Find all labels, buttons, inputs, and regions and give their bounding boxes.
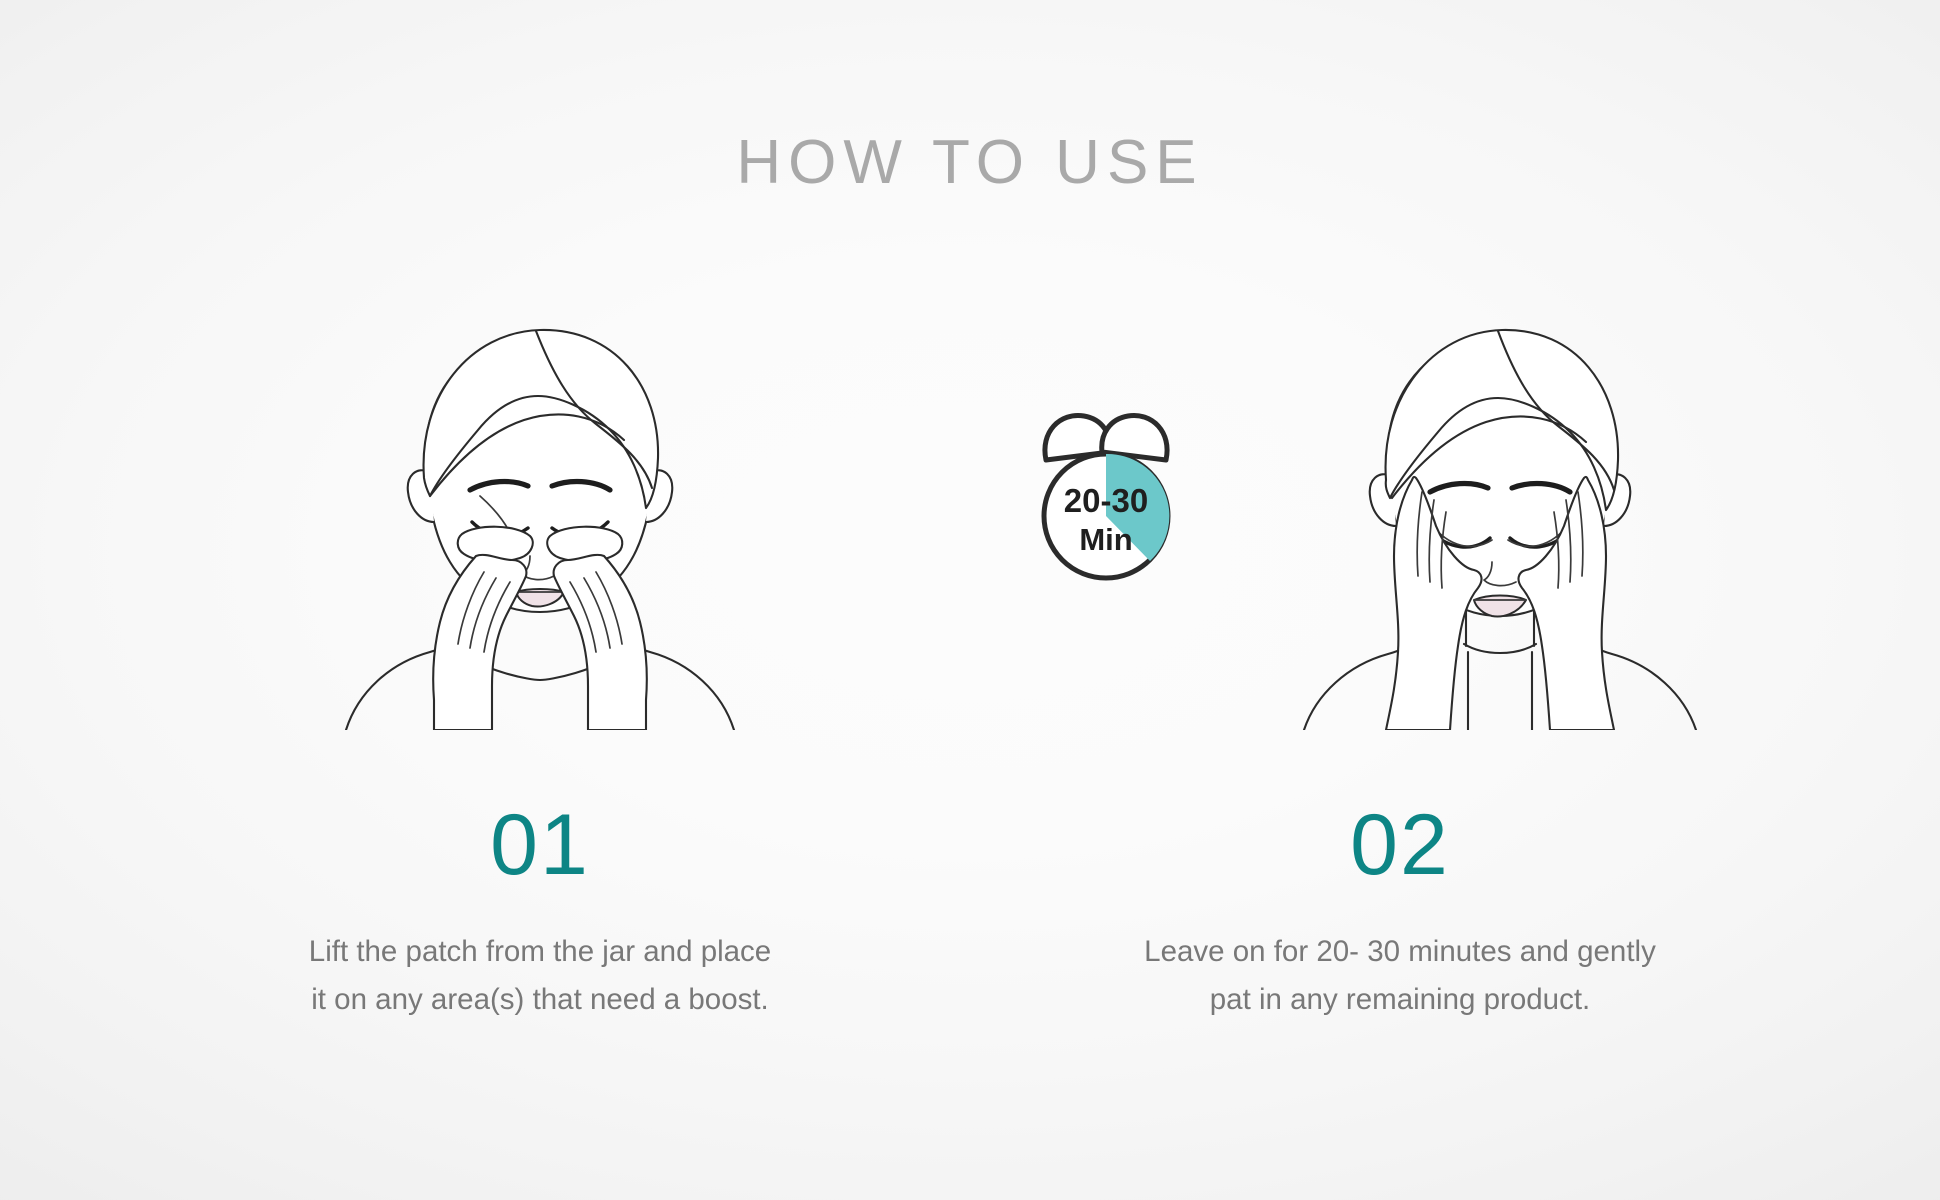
alarm-clock-icon: 20-30 Min xyxy=(1044,415,1169,578)
step-02-illustration: 20-30 Min xyxy=(1020,300,1780,730)
step-02-number: 02 xyxy=(1350,802,1450,888)
step-02-caption-line1: Leave on for 20- 30 minutes and gently xyxy=(1144,935,1656,968)
step-01-number: 01 xyxy=(490,802,590,888)
step-01-caption-line2: it on any area(s) that need a boost. xyxy=(311,983,769,1016)
clock-unit-label: Min xyxy=(1079,522,1132,557)
step-02-caption-line2: pat in any remaining product. xyxy=(1210,983,1590,1016)
step-02-caption: Leave on for 20- 30 minutes and gently p… xyxy=(1144,928,1656,1024)
how-to-use-panel: HOW TO USE xyxy=(0,0,1940,1200)
step-02-illustration-wrap: 20-30 Min xyxy=(1020,300,1780,730)
woman-applying-eye-patches-icon xyxy=(280,300,800,730)
page-title: HOW TO USE xyxy=(0,132,1940,194)
step-01-caption: Lift the patch from the jar and place it… xyxy=(309,928,771,1024)
woman-hands-on-cheeks-icon xyxy=(1304,330,1696,730)
step-01-caption-line1: Lift the patch from the jar and place xyxy=(309,935,771,968)
step-02: 20-30 Min xyxy=(970,300,1830,1024)
step-01-illustration-wrap xyxy=(160,300,920,730)
steps-row: 01 Lift the patch from the jar and place… xyxy=(0,300,1940,1024)
clock-range-label: 20-30 xyxy=(1064,482,1148,519)
step-01: 01 Lift the patch from the jar and place… xyxy=(110,300,970,1024)
